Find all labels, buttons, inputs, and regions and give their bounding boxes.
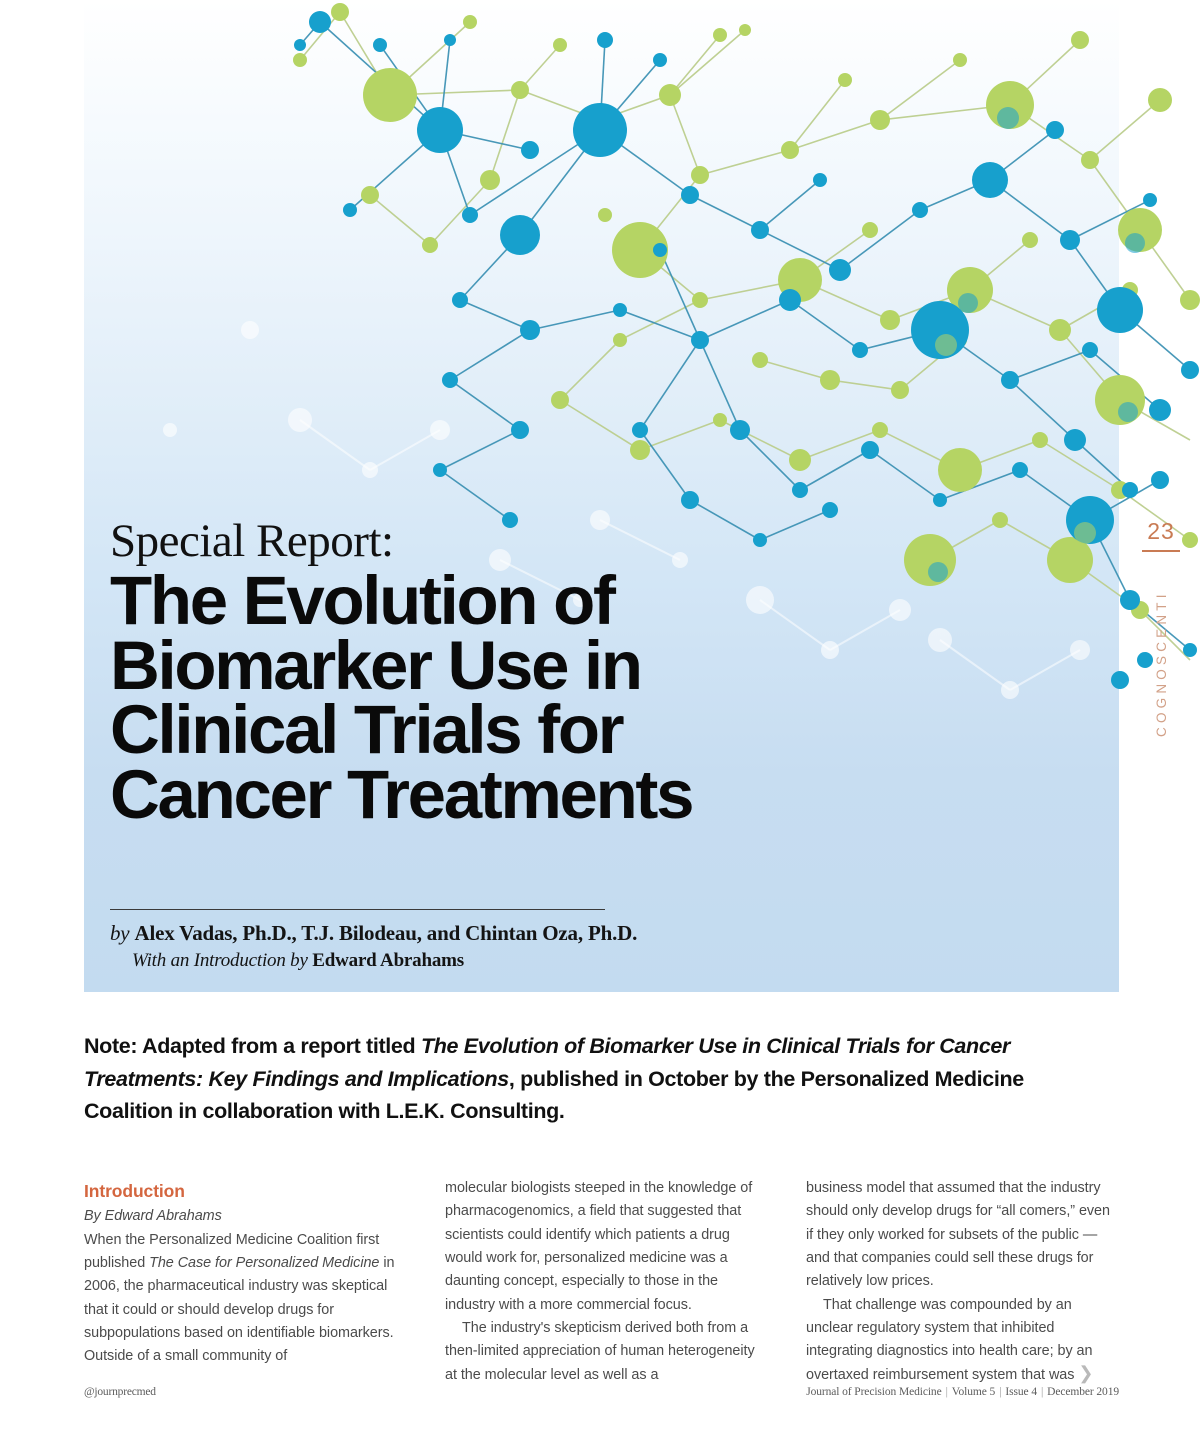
- intro-prefix: With an Introduction by: [132, 950, 308, 971]
- issue: Issue 4: [1005, 1386, 1037, 1398]
- page-footer: @journprecmed Journal of Precision Medic…: [84, 1386, 1119, 1398]
- page-number: 23: [1141, 520, 1181, 550]
- side-rail: 23 COGNOSCENTI: [1141, 520, 1181, 750]
- byline: by Alex Vadas, Ph.D., T.J. Bilodeau, and…: [110, 920, 810, 973]
- byline-prefix: by: [110, 921, 129, 945]
- social-handle[interactable]: @journprecmed: [84, 1386, 156, 1398]
- headline-line-2: Biomarker Use in: [110, 634, 1010, 699]
- byline-authors: Alex Vadas, Ph.D., T.J. Bilodeau, and Ch…: [134, 921, 637, 945]
- rail-divider: [1142, 550, 1180, 552]
- column-2: molecular biologists steeped in the know…: [445, 1177, 758, 1362]
- c1-p1-italic-title: The Case for Personalized Medicine: [149, 1255, 379, 1271]
- column-1-paragraph-1: When the Personalized Medicine Coalition…: [84, 1229, 397, 1369]
- continue-arrow-icon[interactable]: ❯: [1074, 1363, 1093, 1383]
- c3-p2-text: That challenge was compounded by an uncl…: [806, 1297, 1092, 1383]
- byline-divider: [110, 909, 605, 910]
- hero-text-block: Special Report: The Evolution of Biomark…: [110, 518, 1010, 827]
- sep-3: |: [1037, 1386, 1047, 1398]
- column-3-paragraph-2: That challenge was compounded by an uncl…: [806, 1294, 1119, 1387]
- hero-banner: [84, 0, 1119, 992]
- c1-p1-b: in 2006, the pharmaceutical industry was…: [84, 1255, 394, 1364]
- issue-meta: Journal of Precision Medicine|Volume 5|I…: [806, 1386, 1119, 1398]
- sep-1: |: [942, 1386, 952, 1398]
- sep-2: |: [995, 1386, 1005, 1398]
- section-title: Introduction: [84, 1177, 397, 1205]
- headline-line-1: The Evolution of: [110, 569, 1010, 634]
- column-2-paragraph-2: The industry's skepticism derived both f…: [445, 1317, 758, 1387]
- page-title: The Evolution of Biomarker Use in Clinic…: [110, 569, 1010, 827]
- editorial-note: Note: Adapted from a report titled The E…: [84, 1030, 1094, 1128]
- intro-author: Edward Abrahams: [312, 950, 464, 971]
- column-3: business model that assumed that the ind…: [806, 1177, 1119, 1362]
- issue-date: December 2019: [1047, 1386, 1119, 1398]
- column-3-paragraph-1: business model that assumed that the ind…: [806, 1177, 1119, 1294]
- journal-name: Journal of Precision Medicine: [806, 1386, 941, 1398]
- section-byline: By Edward Abrahams: [84, 1205, 397, 1228]
- note-lead: Note: Adapted from a report titled: [84, 1034, 421, 1058]
- headline-line-3: Clinical Trials for: [110, 698, 1010, 763]
- column-1: Introduction By Edward Abrahams When the…: [84, 1177, 397, 1362]
- column-2-paragraph-1: molecular biologists steeped in the know…: [445, 1177, 758, 1317]
- headline-line-4: Cancer Treatments: [110, 763, 1010, 828]
- section-label-vertical: COGNOSCENTI: [1154, 562, 1169, 737]
- kicker: Special Report:: [110, 518, 1010, 565]
- volume: Volume 5: [952, 1386, 995, 1398]
- article-columns: Introduction By Edward Abrahams When the…: [84, 1177, 1119, 1362]
